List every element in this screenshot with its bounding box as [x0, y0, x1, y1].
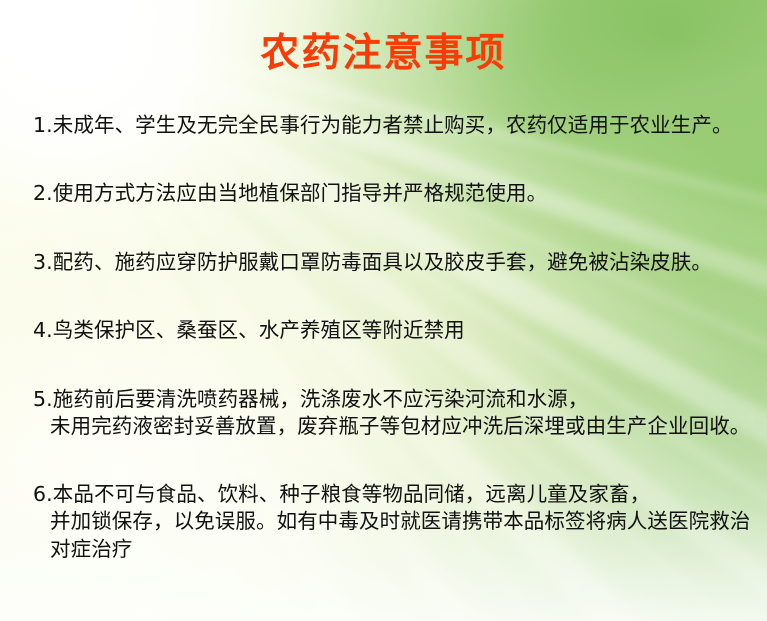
list-item-4: 4.鸟类保护区、桑蚕区、水产养殖区等附近禁用: [33, 317, 753, 344]
notice-list: 1.未成年、学生及无完全民事行为能力者禁止购买，农药仅适用于农业生产。 2.使用…: [33, 112, 753, 563]
list-item-2: 2.使用方式方法应由当地植保部门指导并严格规范使用。: [33, 180, 753, 207]
list-item-6: 6.本品不可与食品、饮料、种子粮食等物品同储，远离儿童及家畜， 并加锁保存，以免…: [33, 481, 753, 563]
list-item-5: 5.施药前后要清洗喷药器械，洗涤废水不应污染河流和水源， 未用完药液密封妥善放置…: [33, 386, 753, 441]
list-item-2-number: 2.: [33, 181, 53, 205]
list-item-6-line-3: 对症治疗: [33, 536, 753, 563]
pesticide-safety-poster: 农药注意事项 1.未成年、学生及无完全民事行为能力者禁止购买，农药仅适用于农业生…: [0, 0, 767, 621]
list-item-5-line-1: 施药前后要清洗喷药器械，洗涤废水不应污染河流和水源，: [53, 387, 589, 411]
list-item-3-number: 3.: [33, 250, 53, 274]
list-item-1-line-1: 未成年、学生及无完全民事行为能力者禁止购买，农药仅适用于农业生产。: [53, 113, 733, 137]
list-item-4-number: 4.: [33, 318, 53, 342]
list-item-6-number: 6.: [33, 482, 53, 506]
list-item-3: 3.配药、施药应穿防护服戴口罩防毒面具以及胶皮手套，避免被沾染皮肤。: [33, 249, 753, 276]
page-title: 农药注意事项: [0, 33, 767, 75]
list-item-1-number: 1.: [33, 113, 53, 137]
poster-content: 农药注意事项 1.未成年、学生及无完全民事行为能力者禁止购买，农药仅适用于农业生…: [0, 0, 767, 621]
list-item-2-line-1: 使用方式方法应由当地植保部门指导并严格规范使用。: [53, 181, 547, 205]
list-item-3-line-1: 配药、施药应穿防护服戴口罩防毒面具以及胶皮手套，避免被沾染皮肤。: [53, 250, 712, 274]
list-item-1: 1.未成年、学生及无完全民事行为能力者禁止购买，农药仅适用于农业生产。: [33, 112, 753, 139]
list-item-6-line-1: 本品不可与食品、饮料、种子粮食等物品同储，远离儿童及家畜，: [53, 482, 650, 506]
list-item-4-line-1: 鸟类保护区、桑蚕区、水产养殖区等附近禁用: [53, 318, 465, 342]
list-item-5-line-2: 未用完药液密封妥善放置，废弃瓶子等包材应冲洗后深埋或由生产企业回收。: [33, 413, 753, 440]
list-item-6-line-2: 并加锁保存，以免误服。如有中毒及时就医请携带本品标签将病人送医院救治: [33, 508, 753, 535]
list-item-5-number: 5.: [33, 387, 53, 411]
